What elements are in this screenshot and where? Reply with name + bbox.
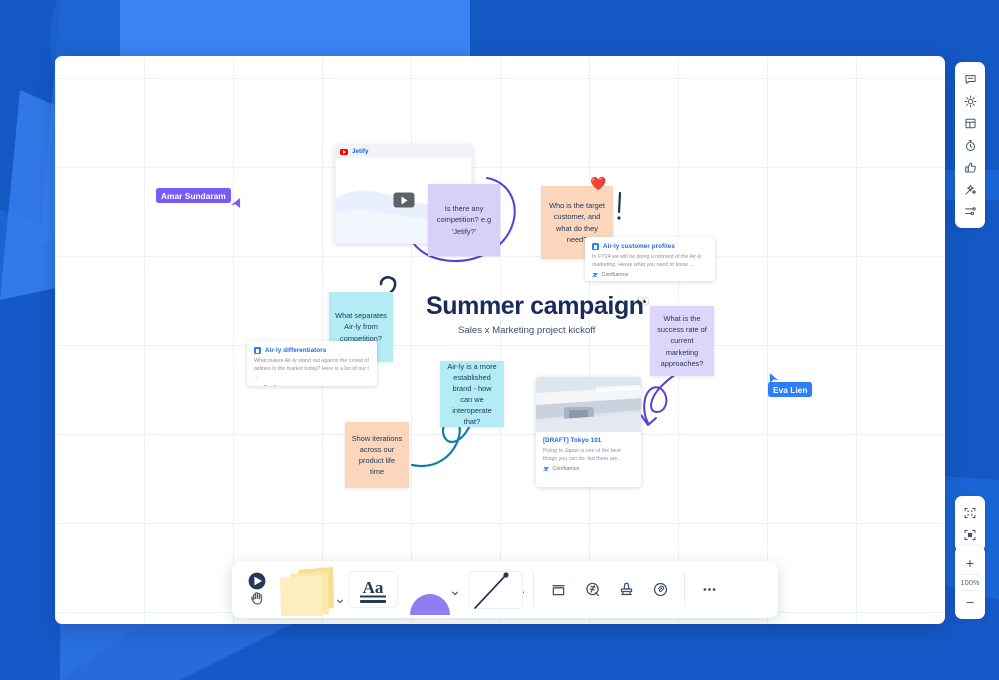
sliders-icon[interactable]	[955, 200, 985, 222]
divider	[533, 573, 534, 606]
toolbar-item-stamp[interactable]	[609, 573, 643, 607]
right-toolbar[interactable]	[955, 62, 985, 228]
zoom-to-selection-icon[interactable]	[955, 524, 985, 546]
chevron-down-icon[interactable]	[336, 597, 344, 605]
sticky-note-text: Is there any competition? e.g 'Jetify?'	[434, 203, 494, 236]
zoom-in-button[interactable]: +	[955, 552, 985, 574]
layout-icon[interactable]	[955, 112, 985, 134]
toolbar-item-text[interactable]: Aa	[348, 567, 398, 612]
toolbar-item-sticky-notes[interactable]	[272, 561, 348, 618]
play-button[interactable]	[393, 193, 414, 208]
link-card-description: Flying to Japan is one of the best thing…	[543, 447, 634, 463]
sparkle-icon[interactable]	[955, 90, 985, 112]
sticky-note-text: Air-ly is a more established brand - how…	[446, 361, 498, 428]
link-card-air-ly-differentiators[interactable]: Air-ly differentiators What makes Air-ly…	[247, 341, 377, 386]
video-card-header: Jetify	[334, 144, 473, 158]
confluence-icon	[254, 385, 260, 386]
sticky-note-text: What separates Air-ly from competition?	[335, 310, 387, 343]
ellipsis-icon	[701, 581, 718, 598]
cursor-hand-icon	[244, 570, 270, 610]
smart-link-icon	[584, 581, 601, 598]
zoom-out-label: −	[966, 595, 974, 609]
link-card-footer: Confluence	[592, 272, 708, 278]
link-card-footer: Confluence	[254, 385, 370, 386]
sticky-note-show-iterations[interactable]: Show iterations across our product life …	[345, 422, 409, 488]
comment-icon[interactable]	[955, 68, 985, 90]
link-card-description: What makes Air-ly stand out against the …	[254, 357, 370, 382]
zoom-in-label: +	[966, 556, 974, 570]
toolbar-item-attach[interactable]	[643, 573, 677, 607]
link-card-source: Confluence	[553, 466, 580, 472]
board-title[interactable]: Summer campaign	[426, 292, 644, 321]
zoom-control[interactable]: + 100% −	[955, 546, 985, 619]
link-card-title: Air-ly differentiators	[265, 347, 326, 354]
shape-icon	[407, 565, 453, 615]
whiteboard-app: Jetify Is there any competition? e.g 'Je…	[0, 0, 999, 680]
bottom-toolbar[interactable]: Aa	[232, 561, 778, 618]
cursor-label: Amar Sundaram	[156, 188, 231, 203]
sticky-note-competition-jetify[interactable]: Is there any competition? e.g 'Jetify?'	[428, 184, 500, 256]
link-card-source: Confluence	[264, 385, 291, 386]
toolbar-item-smart-link[interactable]	[575, 573, 609, 607]
sticky-note-text: Show iterations across our product life …	[351, 433, 403, 477]
video-card-title: Jetify	[352, 148, 368, 155]
cursor-label: Eva Lien	[768, 382, 812, 397]
youtube-icon	[340, 149, 348, 155]
board-subtitle[interactable]: Sales x Marketing project kickoff	[458, 325, 595, 336]
sticky-notes-icon	[276, 564, 338, 616]
sticky-note-text: What is the success rate of current mark…	[656, 313, 708, 369]
svg-text:Aa: Aa	[363, 578, 384, 597]
cursor-amar-sundaram: Amar Sundaram	[156, 188, 241, 209]
page-icon	[254, 347, 261, 354]
link-card-header: Air-ly differentiators	[254, 347, 370, 354]
sticky-note-success-rate[interactable]: What is the success rate of current mark…	[650, 306, 714, 376]
stamp-icon	[618, 581, 635, 598]
card-thumbnail	[536, 377, 641, 432]
magic-wand-icon[interactable]	[955, 178, 985, 200]
toolbar-item-frame[interactable]	[541, 573, 575, 607]
link-card-header: Air-ly customer profiles	[592, 243, 708, 250]
chevron-down-icon[interactable]	[451, 589, 459, 597]
cursor-eva-lien: Eva Lien	[768, 372, 812, 397]
link-card-title: [DRAFT] Tokyo 101	[543, 437, 634, 444]
paperclip-icon	[652, 581, 669, 598]
fit-to-screen-icon[interactable]	[955, 502, 985, 524]
board-canvas[interactable]: Jetify Is there any competition? e.g 'Je…	[55, 56, 945, 624]
view-toolbar[interactable]	[955, 496, 985, 552]
page-icon	[592, 243, 599, 250]
link-card-air-ly-customer-profiles[interactable]: Air-ly customer profiles In FY24 we will…	[585, 237, 715, 281]
sticky-note-established-brand[interactable]: Air-ly is a more established brand - how…	[440, 361, 504, 427]
link-card-title: Air-ly customer profiles	[603, 243, 675, 250]
link-card-draft-tokyo-101[interactable]: [DRAFT] Tokyo 101 Flying to Japan is one…	[536, 377, 641, 487]
link-card-footer: Confluence	[543, 466, 634, 472]
link-card-description: In FY24 we will be doing a rebrand of th…	[592, 253, 708, 269]
confluence-icon	[592, 272, 598, 278]
card-meta: [DRAFT] Tokyo 101 Flying to Japan is one…	[536, 432, 641, 478]
toolbar-item-more[interactable]	[692, 573, 726, 607]
timer-icon[interactable]	[955, 134, 985, 156]
frame-icon	[550, 581, 567, 598]
zoom-level[interactable]: 100%	[961, 575, 980, 590]
heart-sticker[interactable]: ❤️	[590, 177, 606, 190]
confluence-icon	[543, 466, 549, 472]
cursor-arrow-icon	[230, 197, 241, 209]
toolbar-item-select[interactable]	[242, 567, 272, 613]
thumbs-up-icon[interactable]	[955, 156, 985, 178]
canvas-grid	[55, 56, 945, 624]
toolbar-item-shapes[interactable]	[398, 561, 468, 618]
divider	[684, 573, 685, 606]
text-aa-icon: Aa	[356, 574, 390, 606]
toolbar-item-lines[interactable]	[468, 567, 526, 613]
line-icon	[469, 568, 513, 612]
zoom-out-button[interactable]: −	[955, 591, 985, 613]
link-card-source: Confluence	[602, 272, 629, 278]
